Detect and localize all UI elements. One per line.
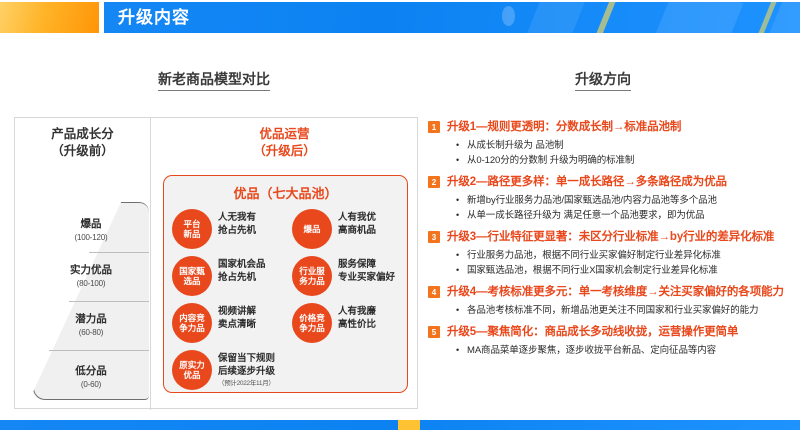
product-score-pyramid: 爆品 (100-120) 实力优品 (80-100) 潜力品 (60-80) 低…: [33, 202, 149, 400]
upgrade-point: 新增by行业服务力品池/国家甄选品池/内容力品池等多个品池: [456, 193, 796, 208]
pool-name-line1: 内容竞: [179, 313, 205, 324]
pools-column-left: 平台 新品 人无我有 抢占先机 国家甄 选品: [166, 206, 288, 394]
upgrade-number-badge: 1: [428, 121, 440, 133]
pyramid-tier-label: 实力优品: [70, 264, 112, 276]
upgrade-title: 升级2—路径更多样：单一成长路径→多条路径成为优品: [447, 175, 796, 190]
pool-desc-line1: 人有我优: [338, 212, 408, 225]
pool-description: 国家机会品 抢占先机: [218, 259, 288, 284]
section-title-right: 升级方向: [575, 70, 631, 91]
slide-footer-bar: [0, 420, 800, 430]
pool-desc-line1: 保留当下规则: [218, 353, 288, 366]
pool-desc-line2: 抢占先机: [218, 225, 288, 238]
pool-name-line1: 国家甄: [179, 266, 205, 277]
header-blue-banner: 升级内容: [104, 2, 800, 33]
pool-desc-line1: 国家机会品: [218, 259, 288, 272]
model-comparison-diagram: 产品成长分 （升级前） 优品运营 （升级后） 爆品 (100-120) 实力优品…: [14, 117, 418, 409]
pyramid-divider: [69, 301, 149, 302]
header-title: 升级内容: [118, 6, 190, 29]
pool-description: 视频讲解 卖点清晰: [218, 306, 288, 331]
upgrade-points: 从成长制升级为 品池制 从0-120分的分数制 升级为明确的标准制: [456, 138, 796, 168]
pools-column-right: 爆品 人有我优 高商机品 行业服 务力品: [286, 206, 408, 347]
header-orange-block: [0, 2, 99, 33]
pool-badge: 内容竞 争力品: [172, 303, 212, 343]
pool-badge: 国家甄 选品: [172, 256, 212, 296]
pool-name-line1: 行业服: [299, 266, 325, 277]
pool-item[interactable]: 国家甄 选品 国家机会品 抢占先机: [166, 253, 288, 300]
pool-name-line2: 选品: [183, 276, 200, 287]
pool-item[interactable]: 价格竞 争力品 人有我廉 高性价比: [286, 300, 408, 347]
upgrade-title: 升级1—规则更透明：分数成长制→标准品池制: [447, 120, 796, 135]
upgrade-point: 各品池考核标准不同，新增品池更关注不同国家和行业买家偏好的能力: [456, 303, 796, 318]
pool-name-line2: 优品: [183, 370, 200, 381]
pool-name-line2: 新品: [183, 229, 200, 240]
section-title-left: 新老商品模型对比: [158, 70, 270, 91]
pool-badge: 平台 新品: [172, 209, 212, 249]
pool-name-line1: 原实力: [179, 360, 205, 371]
pool-item[interactable]: 内容竞 争力品 视频讲解 卖点清晰: [166, 300, 288, 347]
pool-desc-line2: 专业买家偏好: [338, 272, 408, 285]
upgrade-number-badge: 5: [428, 326, 440, 338]
pool-name-line1: 价格竞: [299, 313, 325, 324]
product-pools-panel: 优品（七大品池） 平台 新品 人无我有 抢占先机: [163, 175, 408, 393]
upgrade-points: 新增by行业服务力品池/国家甄选品池/内容力品池等多个品池 从单一成长路径升级为…: [456, 193, 796, 223]
pool-name-line2: 争力品: [179, 323, 205, 334]
pool-desc-line1: 视频讲解: [218, 306, 288, 319]
upgrade-points: MA商品菜单逐步聚焦，逐步收拢平台新品、定向征品等内容: [456, 343, 796, 358]
upgrade-item[interactable]: 4 升级4—考核标准更多元：单一考核维度→关注买家偏好的各项能力 各品池考核标准…: [428, 285, 796, 318]
header-stripe-icon: [655, 2, 744, 33]
new-model-heading-line2: （升级后）: [151, 143, 418, 160]
pool-desc-line1: 服务保障: [338, 259, 408, 272]
pool-desc-line2: 卖点清晰: [218, 319, 288, 332]
pool-desc-note: （预计2022年11月）: [218, 378, 288, 391]
upgrade-number-badge: 3: [428, 231, 440, 243]
pool-name-line2: 务力品: [299, 276, 325, 287]
footer-accent-block: [398, 420, 420, 430]
pyramid-tier-range: (60-80): [33, 326, 149, 339]
pool-desc-line2: 高性价比: [338, 319, 408, 332]
header-stripe-icon: [590, 2, 620, 33]
header-stripe-icon: [524, 2, 587, 33]
upgrade-point: 行业服务力品池，根据不同行业买家偏好制定行业差异化标准: [456, 248, 796, 263]
pyramid-tier-label: 潜力品: [75, 313, 107, 325]
upgrade-point: 从0-120分的分数制 升级为明确的标准制: [456, 153, 796, 168]
pool-description: 人有我优 高商机品: [338, 212, 408, 237]
upgrade-number-badge: 4: [428, 286, 440, 298]
pyramid-tier: 实力优品 (80-100): [33, 264, 149, 290]
upgrade-points: 行业服务力品池，根据不同行业买家偏好制定行业差异化标准 国家甄选品池，根据不同行…: [456, 248, 796, 278]
pyramid-divider: [49, 350, 149, 351]
pool-description: 人有我廉 高性价比: [338, 306, 408, 331]
upgrade-point: 从单一成长路径升级为 满足任意一个品池要求，即为优品: [456, 208, 796, 223]
pyramid-tier-range: (100-120): [33, 231, 149, 244]
pool-desc-line2: 后续逐步升级: [218, 366, 288, 379]
upgrade-title: 升级4—考核标准更多元：单一考核维度→关注买家偏好的各项能力: [447, 285, 796, 300]
upgrade-title: 升级5—聚焦简化：商品成长多动线收拢，运营操作更简单: [447, 325, 796, 340]
upgrade-point: MA商品菜单逐步聚焦，逐步收拢平台新品、定向征品等内容: [456, 343, 796, 358]
pyramid-tier-label: 低分品: [75, 365, 107, 377]
old-model-heading: 产品成长分 （升级前）: [15, 126, 150, 160]
new-model-heading: 优品运营 （升级后）: [151, 126, 418, 160]
upgrade-point: 国家甄选品池，根据不同行业X国家机会制定行业差异化标准: [456, 263, 796, 278]
upgrade-item[interactable]: 1 升级1—规则更透明：分数成长制→标准品池制 从成长制升级为 品池制 从0-1…: [428, 120, 796, 168]
pool-item[interactable]: 爆品 人有我优 高商机品: [286, 206, 408, 253]
pool-desc-line1: 人无我有: [218, 212, 288, 225]
upgrade-number-badge: 2: [428, 176, 440, 188]
old-model-heading-line2: （升级前）: [15, 143, 150, 160]
pyramid-tier: 低分品 (0-60): [33, 365, 149, 391]
diagram-divider: [150, 118, 151, 410]
slide-header: 升级内容: [0, 0, 800, 35]
upgrade-point: 从成长制升级为 品池制: [456, 138, 796, 153]
pool-desc-line2: 抢占先机: [218, 272, 288, 285]
pyramid-tier-label: 爆品: [81, 218, 102, 230]
slide-root: 升级内容 新老商品模型对比 升级方向 产品成长分 （升级前） 优品运营 （升级后…: [0, 0, 800, 430]
pool-badge: 爆品: [292, 209, 332, 249]
pyramid-divider: [89, 252, 149, 253]
pyramid-tier-range: (80-100): [33, 277, 149, 290]
pool-badge: 价格竞 争力品: [292, 303, 332, 343]
pool-item[interactable]: 平台 新品 人无我有 抢占先机: [166, 206, 288, 253]
pyramid-tier-range: (0-60): [33, 378, 149, 391]
upgrade-title: 升级3—行业特征更显著：未区分行业标准→by行业的差异化标准: [447, 230, 796, 245]
pool-item[interactable]: 原实力 优品 保留当下规则 后续逐步升级 （预计2022年11月）: [166, 347, 288, 394]
pyramid-tier: 爆品 (100-120): [33, 218, 149, 244]
upgrade-directions-list: 1 升级1—规则更透明：分数成长制→标准品池制 从成长制升级为 品池制 从0-1…: [428, 120, 796, 365]
pool-name-line1: 平台: [183, 219, 200, 230]
pool-description: 人无我有 抢占先机: [218, 212, 288, 237]
pool-badge: 行业服 务力品: [292, 256, 332, 296]
pool-name-line2: 争力品: [299, 323, 325, 334]
pool-badge: 原实力 优品: [172, 350, 212, 390]
pool-desc-line1: 人有我廉: [338, 306, 408, 319]
upgrade-item[interactable]: 2 升级2—路径更多样：单一成长路径→多条路径成为优品 新增by行业服务力品池/…: [428, 175, 796, 223]
pyramid-tier: 潜力品 (60-80): [33, 313, 149, 339]
pool-item[interactable]: 行业服 务力品 服务保障 专业买家偏好: [286, 253, 408, 300]
upgrade-item[interactable]: 5 升级5—聚焦简化：商品成长多动线收拢，运营操作更简单 MA商品菜单逐步聚焦，…: [428, 325, 796, 358]
upgrade-item[interactable]: 3 升级3—行业特征更显著：未区分行业标准→by行业的差异化标准 行业服务力品池…: [428, 230, 796, 278]
pool-description: 保留当下规则 后续逐步升级 （预计2022年11月）: [218, 353, 288, 391]
pool-name-line1: 爆品: [303, 224, 320, 235]
new-model-heading-line1: 优品运营: [151, 126, 418, 143]
pools-title: 优品（七大品池）: [164, 183, 407, 202]
pool-desc-line2: 高商机品: [338, 225, 408, 238]
old-model-heading-line1: 产品成长分: [15, 126, 150, 143]
upgrade-points: 各品池考核标准不同，新增品池更关注不同国家和行业买家偏好的能力: [456, 303, 796, 318]
pool-description: 服务保障 专业买家偏好: [338, 259, 408, 284]
header-dot-icon: [502, 6, 515, 26]
